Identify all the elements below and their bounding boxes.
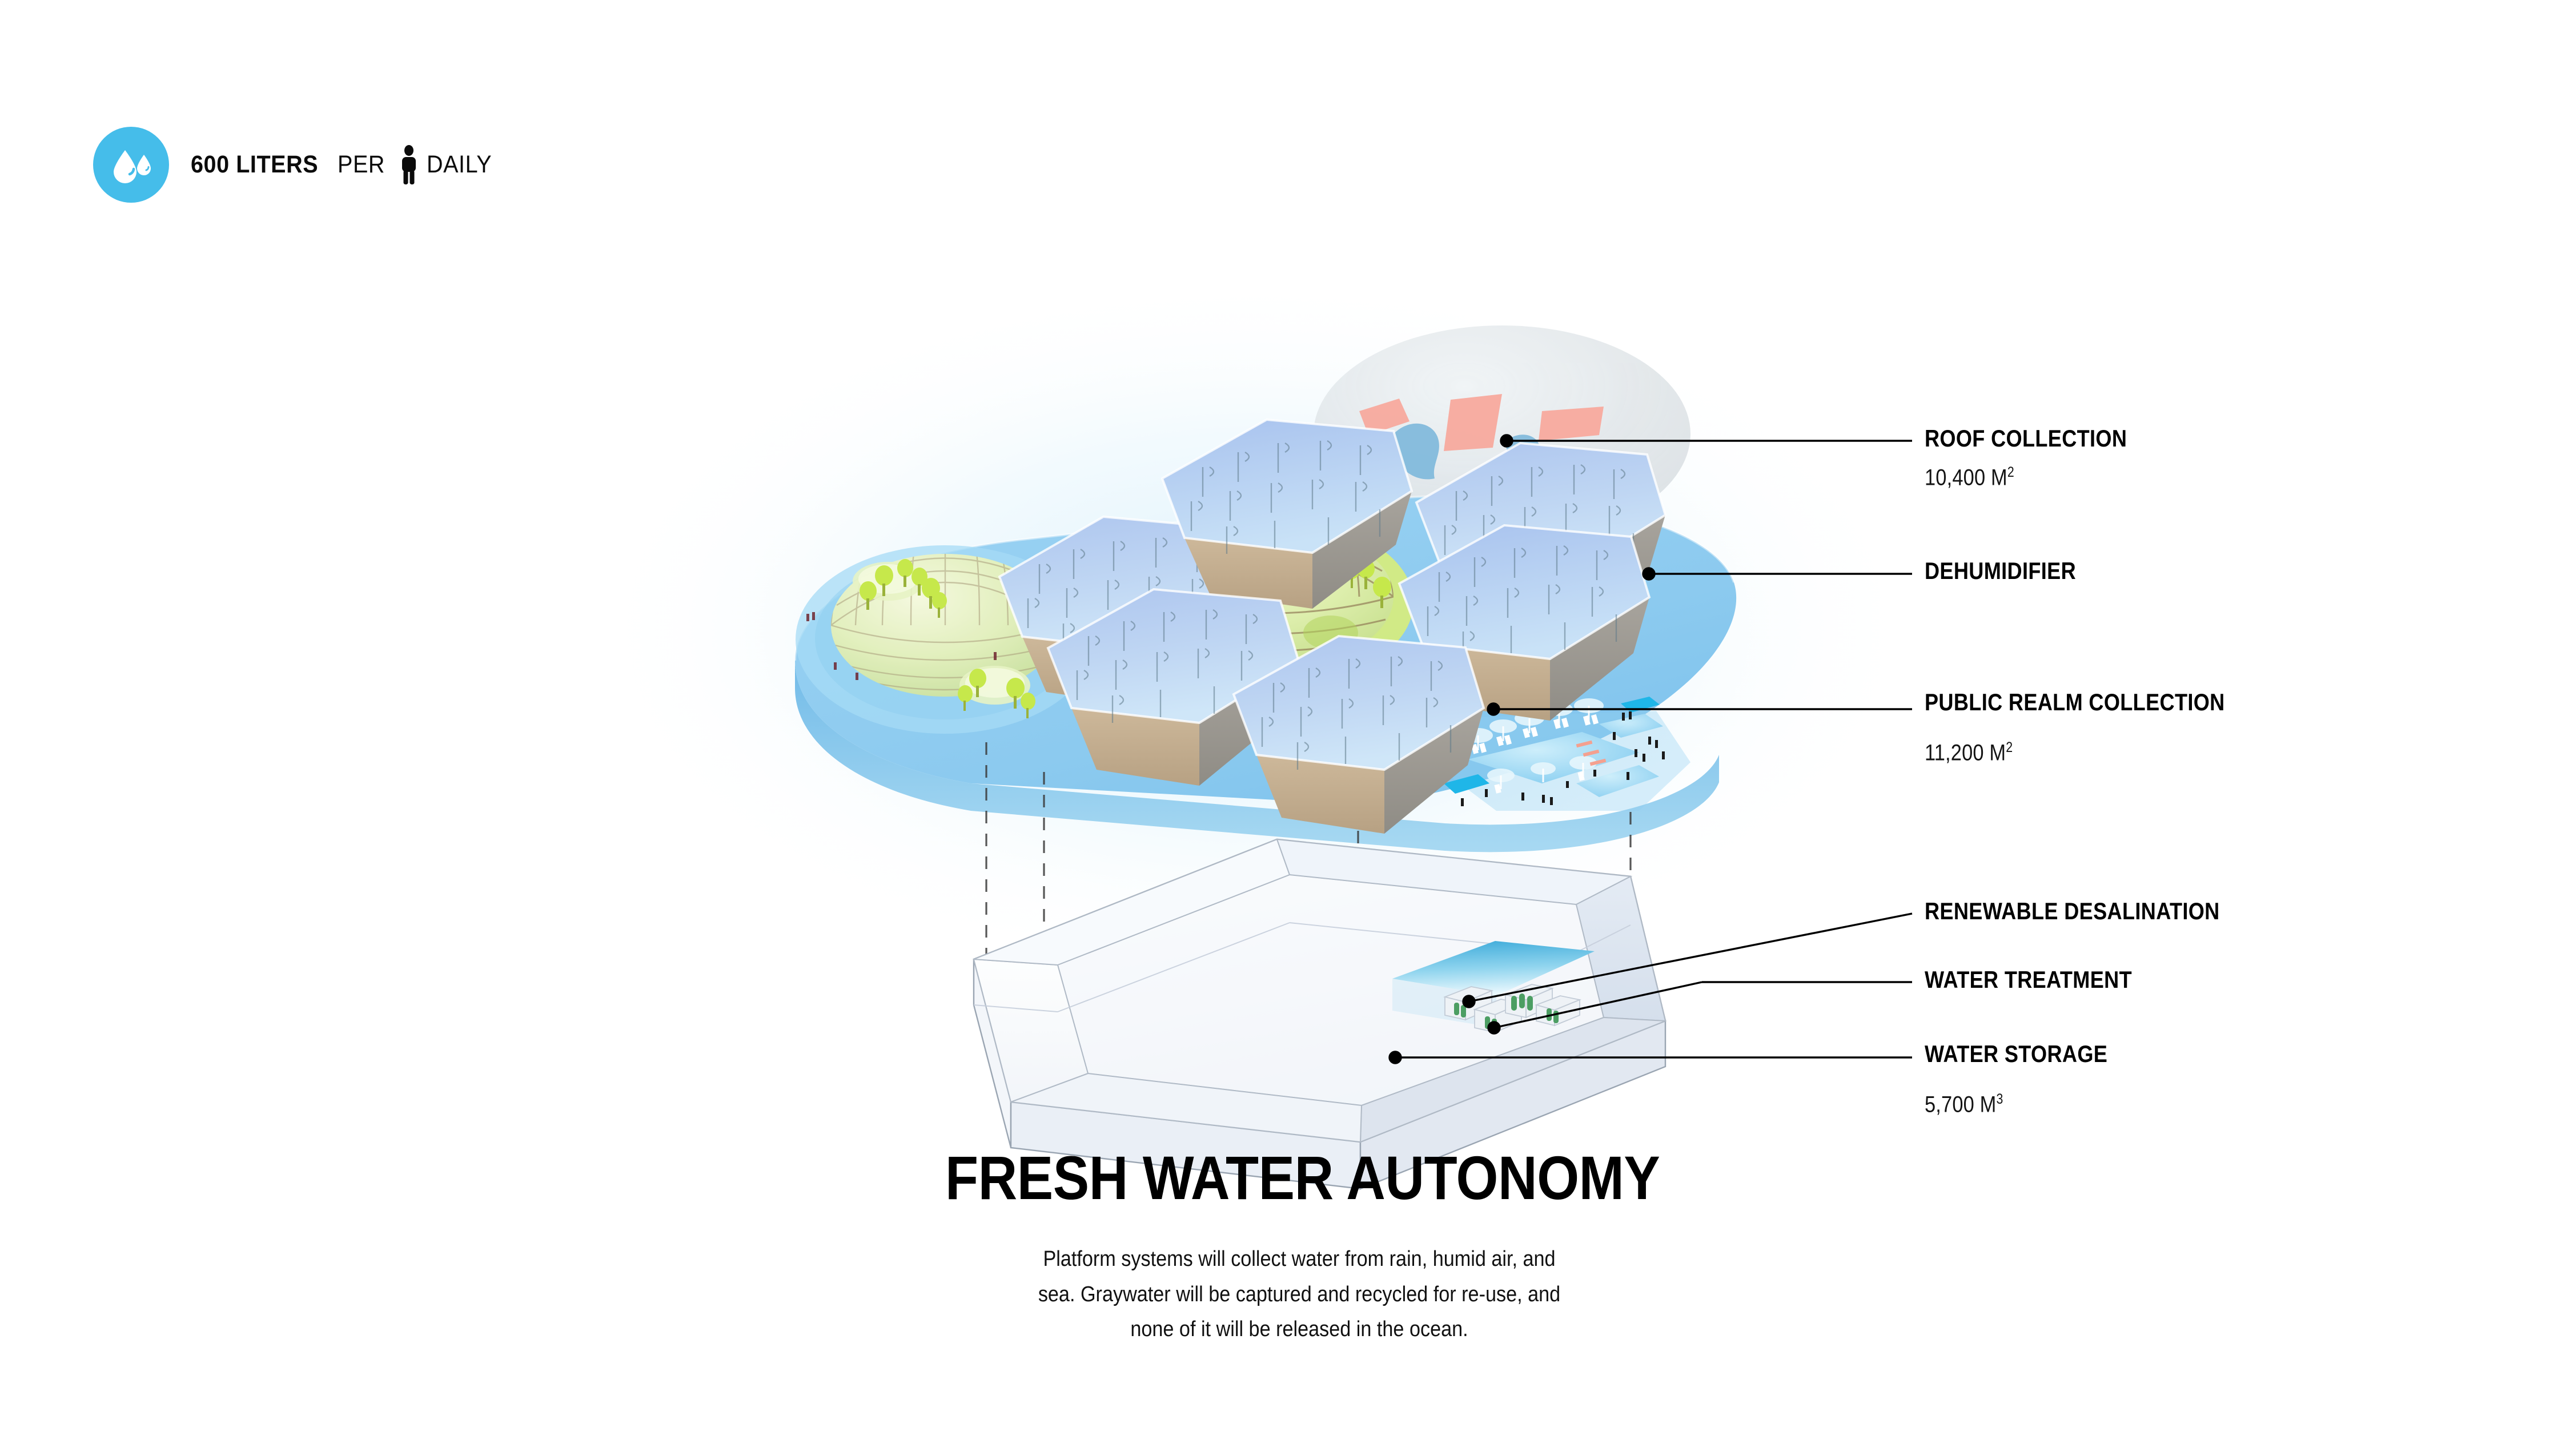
label-value: 10,400 M2 bbox=[1925, 465, 2014, 490]
label-title: ROOF COLLECTION bbox=[1925, 425, 2127, 452]
label-renewable-desalination: RENEWABLE DESALINATION bbox=[1925, 898, 2268, 925]
label-title: PUBLIC REALM COLLECTION bbox=[1925, 689, 2225, 716]
value-water-storage: 5,700 M3 bbox=[1925, 1092, 2016, 1117]
label-dehumidifier: DEHUMIDIFIER bbox=[1925, 557, 2101, 585]
label-title: DEHUMIDIFIER bbox=[1925, 557, 2076, 585]
label-value: 5,700 M3 bbox=[1925, 1092, 2003, 1117]
label-roof-collection: ROOF COLLECTION bbox=[1925, 425, 2160, 452]
label-title: WATER TREATMENT bbox=[1925, 966, 2132, 994]
label-title: RENEWABLE DESALINATION bbox=[1925, 898, 2220, 925]
label-water-treatment: WATER TREATMENT bbox=[1925, 966, 2166, 994]
platform-diagram bbox=[0, 0, 2570, 1456]
label-water-storage: WATER STORAGE bbox=[1925, 1040, 2137, 1068]
description-text: Platform systems will collect water from… bbox=[1027, 1242, 1572, 1348]
infographic-canvas: 600 LITERS PER DAILY bbox=[0, 0, 2570, 1456]
label-public-realm-collection: PUBLIC REALM COLLECTION bbox=[1925, 689, 2274, 716]
label-title: WATER STORAGE bbox=[1925, 1040, 2107, 1068]
label-value: 11,200 M2 bbox=[1925, 740, 2013, 766]
page-title: FRESH WATER AUTONOMY bbox=[945, 1142, 1660, 1213]
value-public-realm-collection: 11,200 M2 bbox=[1925, 740, 2027, 766]
value-roof-collection: 10,400 M2 bbox=[1925, 465, 2029, 490]
